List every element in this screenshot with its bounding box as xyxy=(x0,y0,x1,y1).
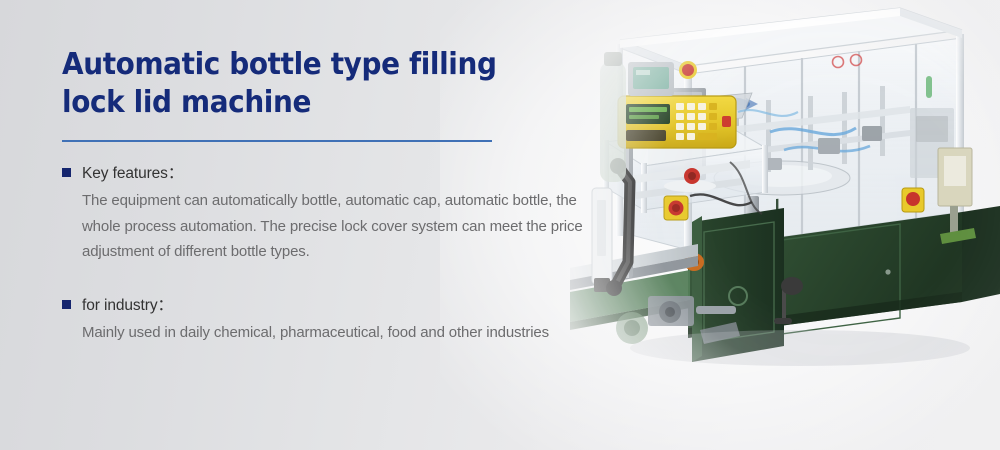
page-title: Automatic bottle type filling lock lid m… xyxy=(62,46,564,123)
feature-section-for-industry: for industry： Mainly used in daily chemi… xyxy=(62,293,602,346)
emergency-stop-front[interactable] xyxy=(664,196,688,220)
machine-illustration xyxy=(570,0,1000,450)
machine-photo xyxy=(570,0,1000,450)
title-divider xyxy=(62,140,492,142)
indicator-light xyxy=(722,116,731,127)
feature-section-key-features: Key features： The equipment can automati… xyxy=(62,161,602,265)
bullet-square-icon xyxy=(62,168,71,177)
section-body: The equipment can automatically bottle, … xyxy=(82,188,594,265)
section-title: Key features： xyxy=(82,161,183,183)
bottle-cylinder xyxy=(600,52,626,182)
section-title: for industry： xyxy=(82,293,173,315)
bullet-square-icon xyxy=(62,300,71,309)
floor-shadow xyxy=(630,330,970,366)
emergency-stop-right[interactable] xyxy=(902,188,924,212)
section-body: Mainly used in daily chemical, pharmaceu… xyxy=(82,320,594,346)
push-button-red[interactable] xyxy=(684,168,700,184)
text-column: Automatic bottle type filling lock lid m… xyxy=(62,46,602,346)
hmi-touchscreen[interactable] xyxy=(628,62,674,96)
section-heading: for industry： xyxy=(62,293,602,315)
section-heading: Key features： xyxy=(62,161,602,183)
product-banner: Automatic bottle type filling lock lid m… xyxy=(0,0,1000,450)
emergency-stop-upper[interactable] xyxy=(679,61,697,79)
